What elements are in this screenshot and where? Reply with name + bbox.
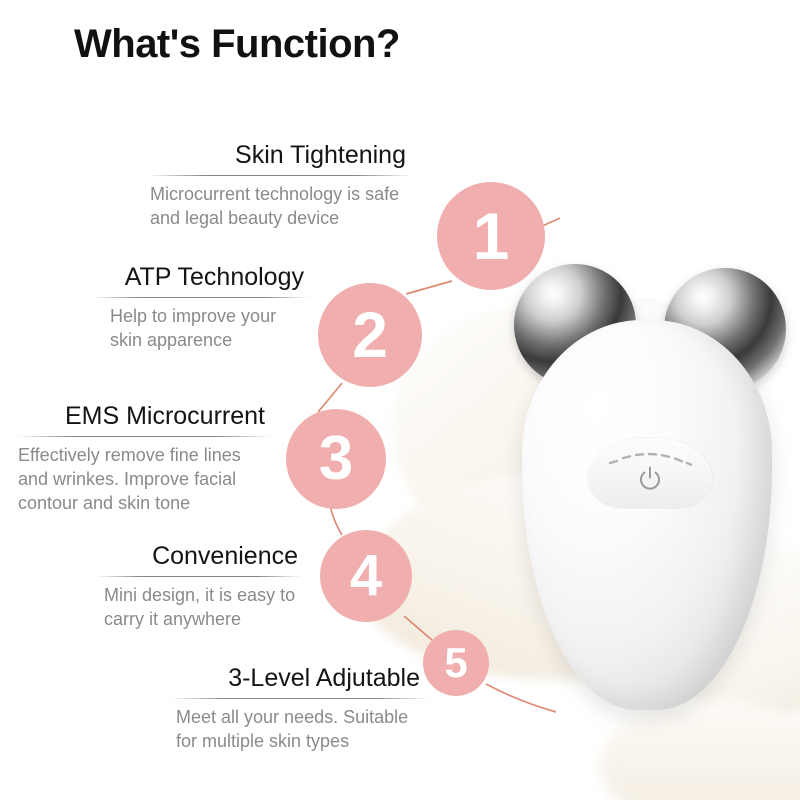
feature-block-3-level-adjustable: 3-Level Adjutable Meet all your needs. S… [170,665,430,753]
connector-line-2-3 [318,383,342,412]
feature-description: Microcurrent technology is safe and lega… [146,182,414,231]
device-body [522,320,772,710]
feature-description: Effectively remove fine lines and wrinke… [16,443,271,516]
product-feature-poster: What's Function? 1 2 3 4 5 Skin Tighteni… [0,0,800,800]
feature-description: Meet all your needs. Suitable for multip… [170,705,430,754]
device-button-panel[interactable] [588,438,712,508]
feature-block-skin-tightening: Skin Tightening Microcurrent technology … [146,142,414,230]
feature-heading: ATP Technology [92,264,310,292]
page-title: What's Function? [74,22,400,67]
feature-block-atp-technology: ATP Technology Help to improve your skin… [92,264,310,352]
feature-heading: 3-Level Adjutable [170,665,430,693]
feature-divider [96,576,302,577]
feature-description: Mini design, it is easy to carry it anyw… [96,583,302,632]
feature-heading: Convenience [96,543,302,571]
step-badge-3[interactable]: 3 [286,409,386,509]
feature-description: Help to improve your skin apparence [92,304,310,353]
feature-divider [146,175,414,176]
step-badge-2[interactable]: 2 [318,283,422,387]
led-level-arc-icon [606,446,694,468]
feature-divider [170,698,430,699]
feature-heading: Skin Tightening [146,142,414,170]
connector-line-1-2 [406,281,452,294]
power-icon[interactable] [638,466,662,492]
feature-block-convenience: Convenience Mini design, it is easy to c… [96,543,302,631]
step-badge-4[interactable]: 4 [320,530,412,622]
connector-line-3-4 [330,506,342,535]
step-badge-5[interactable]: 5 [423,630,489,696]
feature-block-ems-microcurrent: EMS Microcurrent Effectively remove fine… [16,403,271,515]
feature-heading: EMS Microcurrent [16,403,271,431]
product-device-image [492,250,792,720]
feature-divider [92,297,310,298]
connector-line-4-5 [404,616,432,640]
feature-divider [16,436,271,437]
